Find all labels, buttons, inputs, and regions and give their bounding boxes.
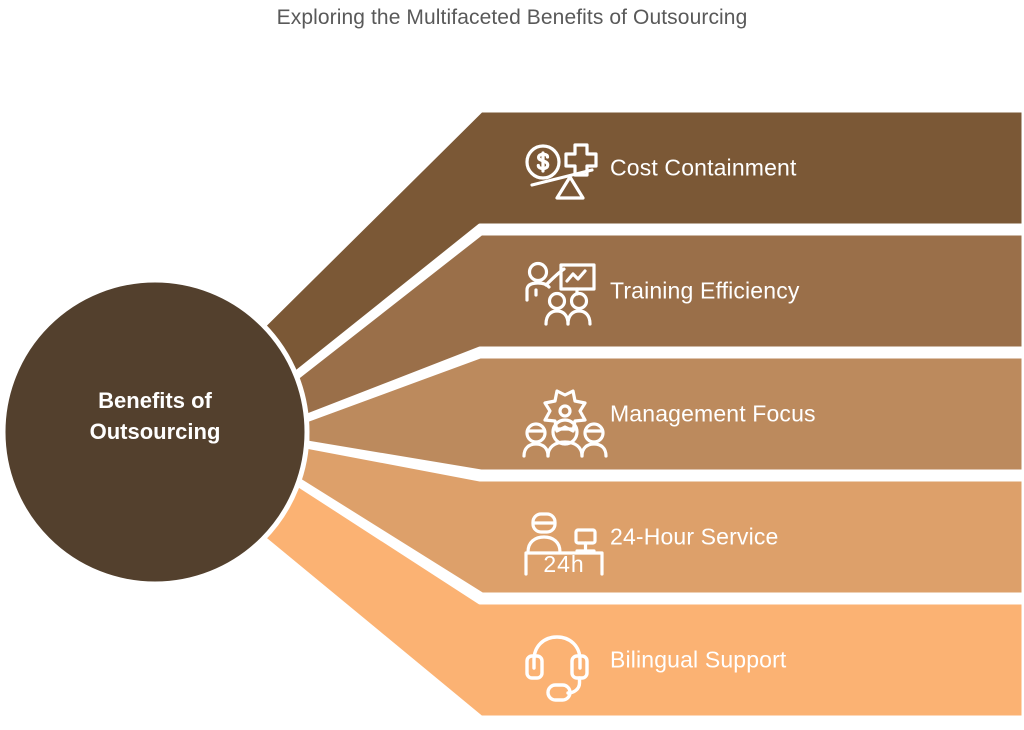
band-label-training-efficiency[interactable]: Training Efficiency	[610, 278, 800, 305]
band-label-cost-containment[interactable]: Cost Containment	[610, 155, 797, 182]
svg-text:24h: 24h	[543, 551, 584, 577]
band-label-bilingual-support[interactable]: Bilingual Support	[610, 647, 786, 674]
hub-circle[interactable]	[3, 280, 307, 584]
band-label-24-hour-service[interactable]: 24-Hour Service	[610, 524, 778, 551]
band-label-management-focus[interactable]: Management Focus	[610, 401, 816, 428]
infographic-diagram: 24h	[0, 0, 1024, 730]
